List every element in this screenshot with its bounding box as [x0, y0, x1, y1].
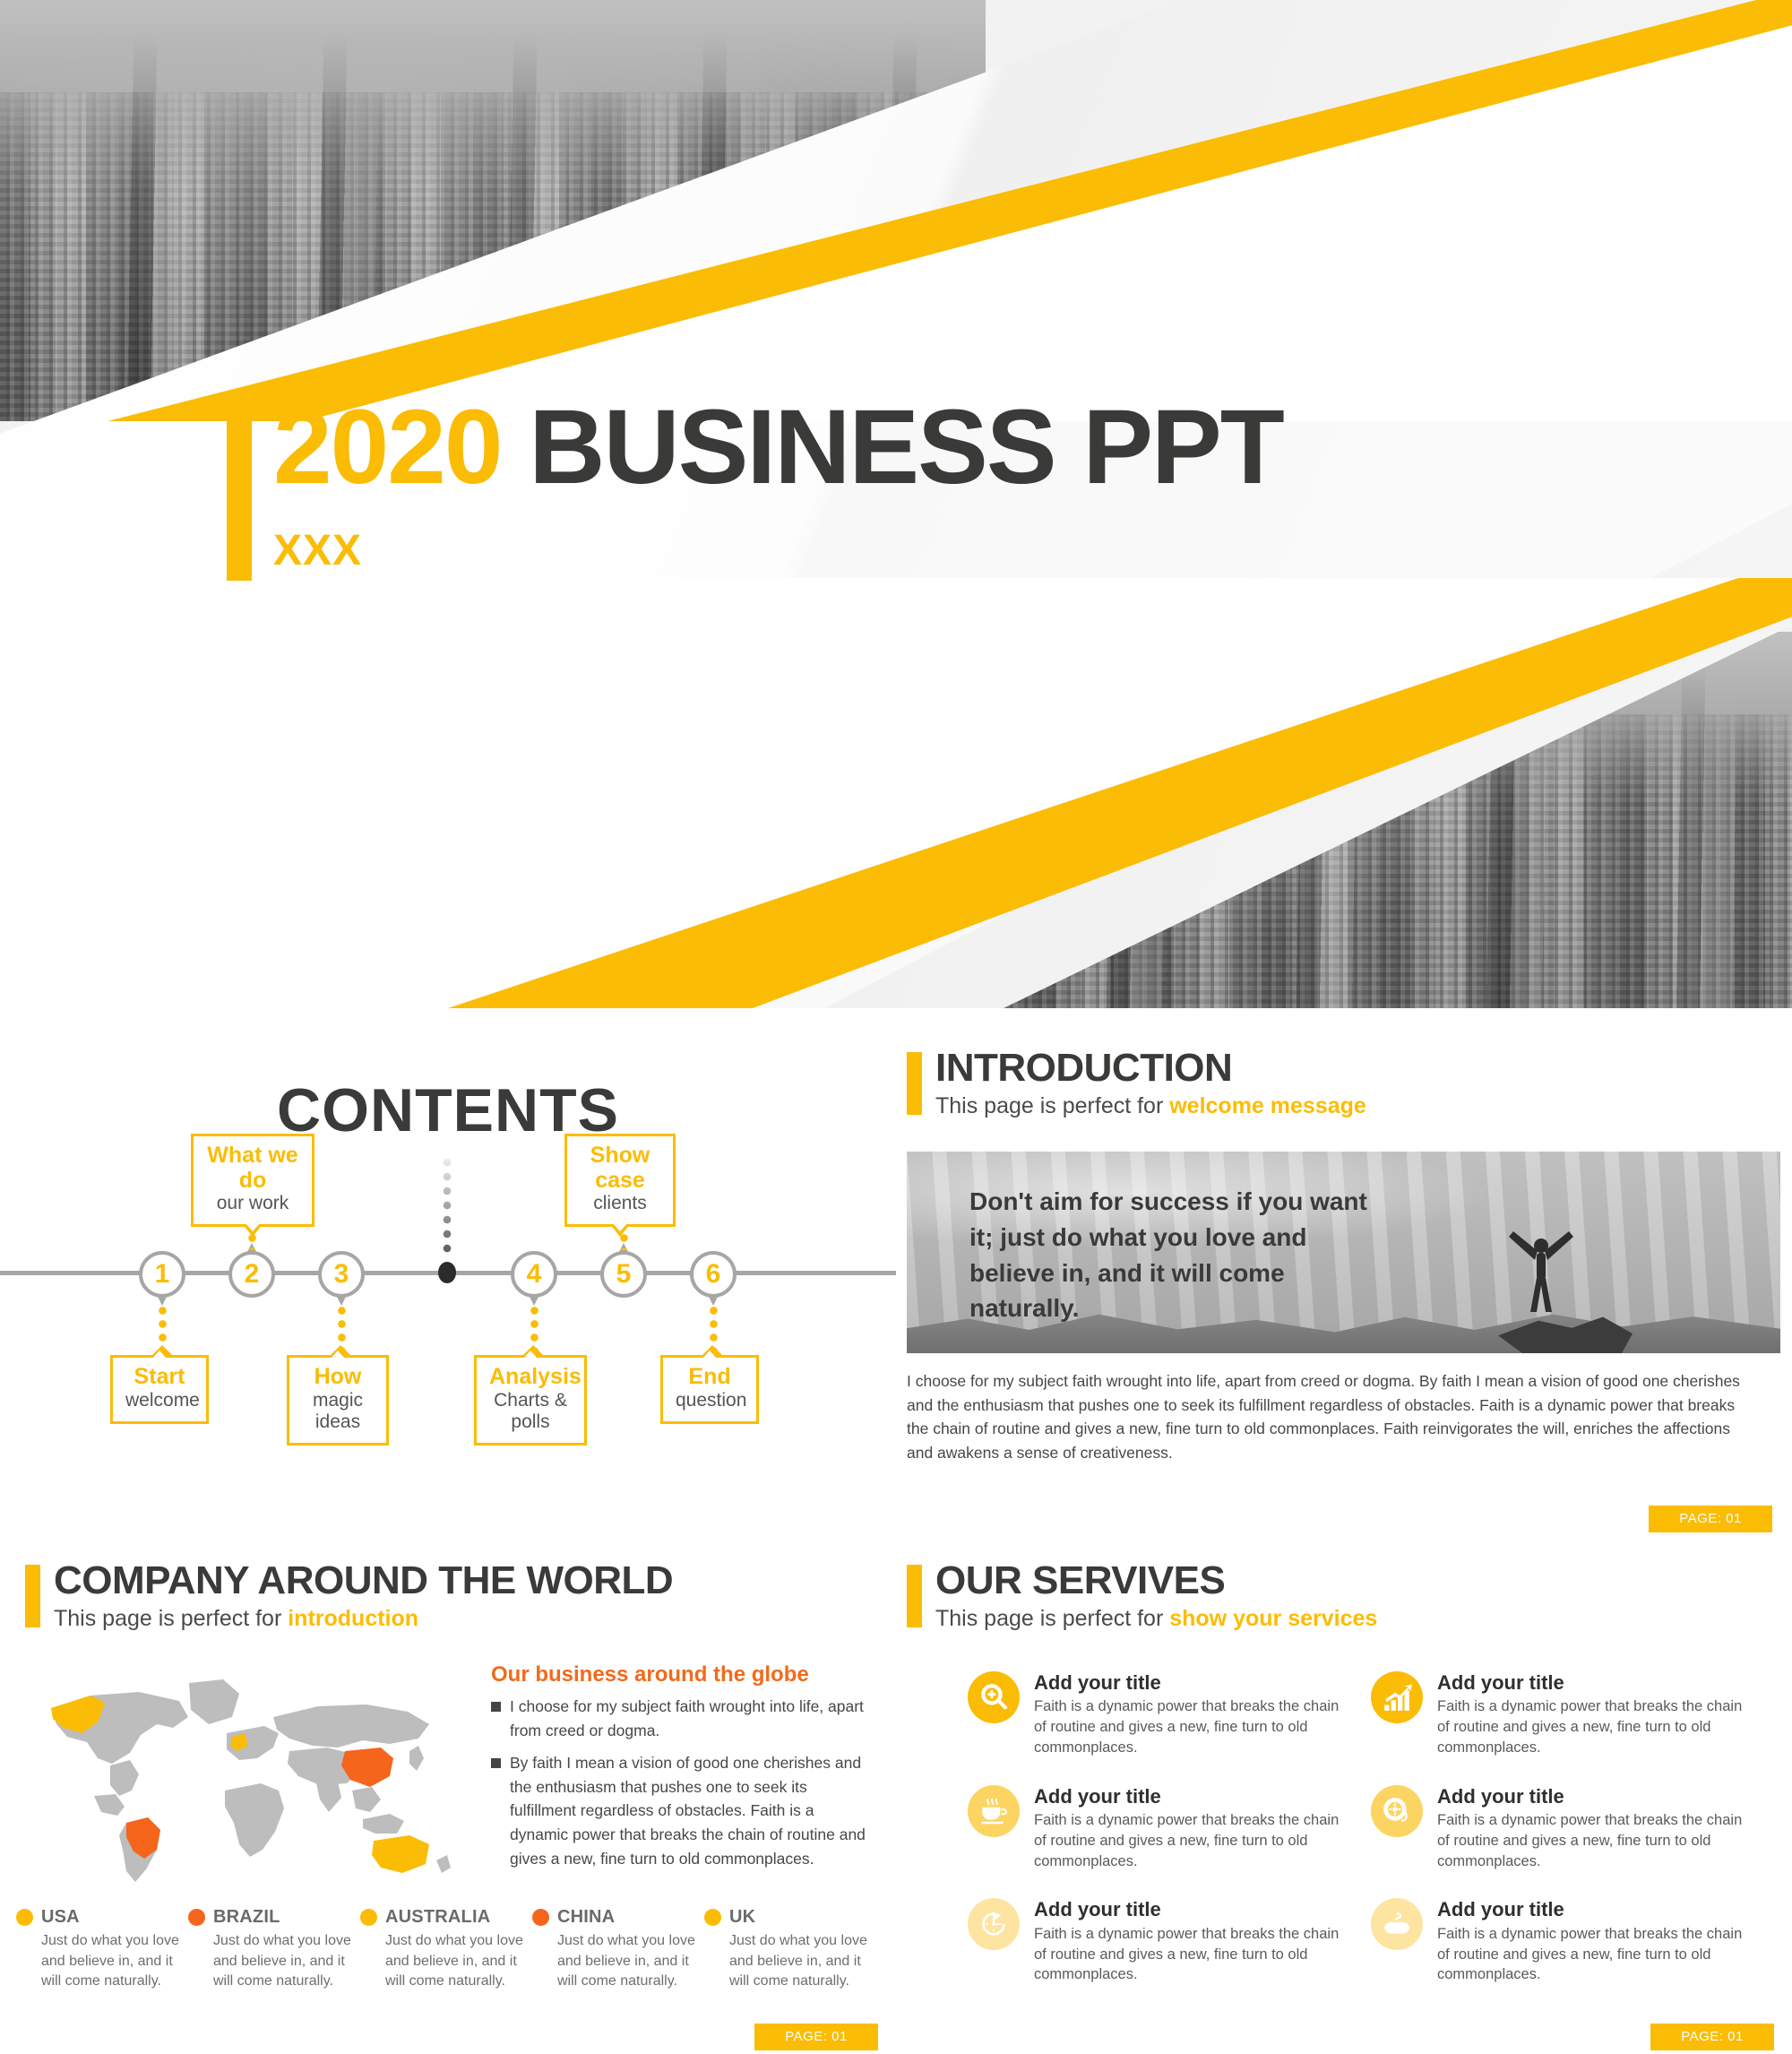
legend-item-uk[interactable]: UK Just do what you love and believe in,… [704, 1907, 869, 1992]
timeline-node-3[interactable]: 3 [318, 1251, 365, 1298]
timeline-box-2[interactable]: What we do our work [191, 1134, 314, 1227]
service-item-5[interactable]: Add your title Faith is a dynamic power … [968, 1898, 1344, 1985]
service-item-4[interactable]: Add your title Faith is a dynamic power … [1371, 1785, 1747, 1872]
bar-chart-growth-icon [1371, 1671, 1423, 1723]
film-reel-icon [1371, 1785, 1423, 1837]
timeline-box-3-sub: magic ideas [302, 1390, 374, 1433]
service-text: Faith is a dynamic power that breaks the… [1437, 1924, 1747, 1985]
coffee-cup-icon [968, 1785, 1020, 1837]
header-accent-bar [25, 1565, 40, 1627]
service-text: Faith is a dynamic power that breaks the… [1034, 1696, 1344, 1757]
world-slide: COMPANY AROUND THE WORLD This page is pe… [0, 1532, 896, 2054]
page-subtitle-prefix: This page is perfect for [935, 1606, 1169, 1631]
timeline-box-3[interactable]: How magic ideas [287, 1355, 389, 1446]
cover-subtitle: XXX [273, 526, 362, 575]
timeline-box-4-title: Analysis [489, 1365, 572, 1390]
service-item-2[interactable]: Add your title Faith is a dynamic power … [1371, 1671, 1747, 1758]
timeline-box-3-title: How [302, 1365, 374, 1390]
legend-item-australia[interactable]: AUSTRALIA Just do what you love and beli… [360, 1907, 525, 1992]
page-subtitle-prefix: This page is perfect for [54, 1606, 288, 1631]
page-title: OUR SERVIVES [935, 1561, 1377, 1601]
computer-mouse-icon [1371, 1898, 1423, 1950]
page-subtitle-prefix: This page is perfect for [935, 1093, 1169, 1118]
introduction-paragraph: I choose for my subject faith wrought in… [907, 1369, 1758, 1464]
services-slide: OUR SERVIVES This page is perfect for sh… [896, 1532, 1792, 2054]
timeline-node-6[interactable]: 6 [690, 1251, 737, 1298]
legend-dot-icon [360, 1909, 377, 1926]
magnifier-plus-icon [968, 1671, 1020, 1723]
timeline-box-1-title: Start [125, 1365, 194, 1390]
title-accent-bar [227, 406, 252, 581]
legend-text: Just do what you love and believe in, an… [532, 1931, 697, 1992]
timeline-box-6-sub: question [676, 1390, 744, 1411]
legend-text: Just do what you love and believe in, an… [360, 1931, 525, 1992]
legend-item-usa[interactable]: USA Just do what you love and believe in… [16, 1907, 181, 1992]
timeline-box-6[interactable]: End question [660, 1355, 759, 1424]
header-accent-bar [907, 1565, 922, 1627]
globe-heading: Our business around the globe [491, 1662, 867, 1687]
timeline-box-5-title: Show case [580, 1144, 660, 1193]
timeline-box-5-sub: clients [580, 1193, 660, 1214]
country-legend: USA Just do what you love and believe in… [16, 1907, 876, 1992]
service-item-3[interactable]: Add your title Faith is a dynamic power … [968, 1785, 1344, 1872]
service-title: Add your title [1437, 1898, 1747, 1921]
cover-title: 2020 BUSINESS PPT [273, 394, 1283, 500]
world-header: COMPANY AROUND THE WORLD This page is pe… [25, 1561, 673, 1632]
page-subtitle-accent: show your services [1169, 1606, 1377, 1631]
service-text: Faith is a dynamic power that breaks the… [1034, 1924, 1344, 1985]
legend-text: Just do what you love and believe in, an… [704, 1931, 869, 1992]
service-title: Add your title [1034, 1898, 1344, 1921]
introduction-slide: INTRODUCTION This page is perfect for we… [896, 1008, 1792, 1532]
map-region-australia [372, 1835, 429, 1873]
legend-item-china[interactable]: CHINA Just do what you love and believe … [532, 1907, 697, 1992]
services-header: OUR SERVIVES This page is perfect for sh… [907, 1561, 1377, 1632]
page-title: INTRODUCTION [935, 1049, 1366, 1088]
bullet-square-icon [491, 1702, 501, 1712]
timeline-node-4[interactable]: 4 [511, 1251, 557, 1298]
service-title: Add your title [1034, 1785, 1344, 1808]
services-grid: Add your title Faith is a dynamic power … [968, 1671, 1774, 1985]
legend-name: BRAZIL [213, 1907, 280, 1928]
timeline-box-1[interactable]: Start welcome [110, 1355, 209, 1424]
page-subtitle-accent: introduction [288, 1606, 418, 1631]
timeline-box-1-sub: welcome [125, 1390, 194, 1411]
globe-bullet-2: By faith I mean a vision of good one che… [510, 1751, 867, 1870]
page-badge: PAGE: 01 [1650, 2024, 1774, 2050]
page-title: COMPANY AROUND THE WORLD [54, 1561, 673, 1601]
world-map[interactable] [4, 1665, 470, 1889]
timeline-box-4[interactable]: Analysis Charts & polls [474, 1355, 587, 1446]
page-badge: PAGE: 01 [754, 2024, 878, 2050]
page-badge: PAGE: 01 [1649, 1506, 1772, 1532]
page-subtitle: This page is perfect for show your servi… [935, 1606, 1377, 1632]
world-map-svg [4, 1665, 470, 1889]
clock-rotate-icon [968, 1898, 1020, 1950]
globe-bullet-1: I choose for my subject faith wrought in… [510, 1695, 867, 1742]
service-text: Faith is a dynamic power that breaks the… [1437, 1810, 1747, 1871]
service-text: Faith is a dynamic power that breaks the… [1437, 1696, 1747, 1757]
cover-slide: 2020 BUSINESS PPT XXX [0, 0, 1792, 1008]
hero-photo: Don't aim for success if you want it; ju… [907, 1152, 1780, 1353]
timeline-node-5[interactable]: 5 [600, 1251, 647, 1298]
person-silhouette-icon [1506, 1226, 1576, 1312]
service-title: Add your title [1437, 1785, 1747, 1808]
hero-quote: Don't aim for success if you want it; ju… [969, 1184, 1382, 1326]
header-accent-bar [907, 1052, 922, 1115]
bullet-square-icon [491, 1758, 501, 1768]
service-item-1[interactable]: Add your title Faith is a dynamic power … [968, 1671, 1344, 1758]
timeline-node-2[interactable]: 2 [228, 1251, 275, 1298]
legend-dot-icon [532, 1909, 549, 1926]
legend-dot-icon [704, 1909, 721, 1926]
legend-name: AUSTRALIA [385, 1907, 490, 1928]
legend-text: Just do what you love and believe in, an… [188, 1931, 353, 1992]
timeline-center-dot [438, 1262, 456, 1283]
legend-name: CHINA [557, 1907, 615, 1928]
timeline-box-5[interactable]: Show case clients [564, 1134, 676, 1227]
timeline-box-2-sub: our work [206, 1193, 299, 1214]
cover-title-rest: BUSINESS PPT [502, 388, 1283, 506]
legend-text: Just do what you love and believe in, an… [16, 1931, 181, 1992]
globe-text-block: Our business around the globe I choose f… [491, 1662, 867, 1879]
introduction-header: INTRODUCTION This page is perfect for we… [907, 1049, 1366, 1119]
service-text: Faith is a dynamic power that breaks the… [1034, 1810, 1344, 1871]
cover-title-year: 2020 [273, 388, 502, 506]
list-item: By faith I mean a vision of good one che… [491, 1751, 867, 1870]
timeline-vertical-dots [443, 1158, 452, 1258]
timeline-node-1[interactable]: 1 [139, 1251, 185, 1298]
page-subtitle-accent: welcome message [1169, 1093, 1366, 1118]
page-subtitle: This page is perfect for introduction [54, 1606, 673, 1632]
contents-title: CONTENTS [0, 1075, 896, 1145]
legend-dot-icon [188, 1909, 205, 1926]
service-title: Add your title [1437, 1671, 1747, 1695]
page-subtitle: This page is perfect for welcome message [935, 1093, 1366, 1119]
timeline-box-2-title: What we do [206, 1144, 299, 1193]
legend-name: UK [729, 1907, 755, 1928]
legend-item-brazil[interactable]: BRAZIL Just do what you love and believe… [188, 1907, 353, 1992]
timeline-box-6-title: End [676, 1365, 744, 1390]
legend-dot-icon [16, 1909, 33, 1926]
legend-name: USA [41, 1907, 80, 1928]
service-title: Add your title [1034, 1671, 1344, 1695]
service-item-6[interactable]: Add your title Faith is a dynamic power … [1371, 1898, 1747, 1985]
contents-slide: CONTENTS 1 2 3 4 5 6 What we do our work… [0, 1008, 896, 1532]
list-item: I choose for my subject faith wrought in… [491, 1695, 867, 1742]
timeline-box-4-sub: Charts & polls [489, 1390, 572, 1433]
